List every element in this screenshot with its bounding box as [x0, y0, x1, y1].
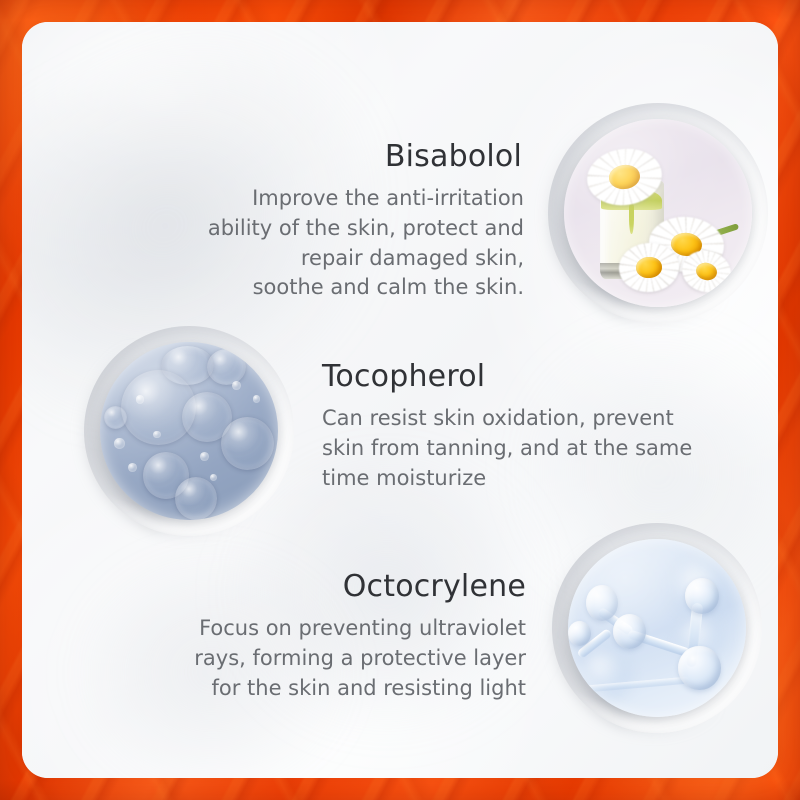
- molecule-atom: [685, 578, 719, 614]
- molecule-structure-photo: [568, 539, 746, 717]
- molecule-bokeh: [579, 649, 632, 702]
- water-bubble: [104, 406, 127, 429]
- ingredient-image-bisabolol: [564, 119, 752, 307]
- micro-bubble: [128, 463, 137, 472]
- ingredient-benefits-poster: Bisabolol Improve the anti-irritation ab…: [0, 0, 800, 800]
- ingredient-description-tocopherol: Can resist skin oxidation, prevent skin …: [322, 404, 714, 493]
- micro-bubble: [153, 431, 160, 438]
- ingredient-title-octocrylene: Octocrylene: [130, 570, 526, 603]
- content-card: Bisabolol Improve the anti-irritation ab…: [22, 22, 778, 778]
- water-bubble: [207, 349, 246, 385]
- ingredient-block-tocopherol: Tocopherol Can resist skin oxidation, pr…: [322, 360, 714, 493]
- ingredient-description-octocrylene: Focus on preventing ultraviolet rays, fo…: [130, 614, 526, 703]
- daisy-flower-icon: [617, 241, 680, 294]
- chamomile-oil-jar-photo: [564, 119, 752, 307]
- micro-bubble: [210, 474, 217, 481]
- ingredient-block-bisabolol: Bisabolol Improve the anti-irritation ab…: [132, 140, 524, 303]
- bubbles-scene: [100, 342, 278, 520]
- daisy-flower-icon: [583, 144, 665, 210]
- jar-oil-drip: [629, 204, 633, 233]
- molecule-atom: [678, 646, 721, 691]
- molecule-atom: [586, 585, 618, 621]
- micro-bubble: [200, 452, 209, 461]
- ingredient-title-tocopherol: Tocopherol: [322, 360, 714, 393]
- chamomile-scene: [564, 119, 752, 307]
- water-bubble: [221, 417, 274, 470]
- ingredient-block-octocrylene: Octocrylene Focus on preventing ultravio…: [130, 570, 526, 703]
- daisy-flower-icon: [678, 245, 735, 297]
- ingredient-image-octocrylene: [568, 539, 746, 717]
- molecule-atom: [568, 621, 591, 646]
- ingredient-title-bisabolol: Bisabolol: [132, 140, 524, 173]
- water-bubble: [175, 477, 218, 520]
- micro-bubble: [253, 395, 260, 402]
- water-bubbles-photo: [100, 342, 278, 520]
- ingredient-description-bisabolol: Improve the anti-irritation ability of t…: [132, 184, 524, 303]
- micro-bubble: [114, 438, 125, 449]
- molecule-atom: [613, 614, 647, 650]
- molecule-scene: [568, 539, 746, 717]
- micro-bubble: [232, 381, 241, 390]
- ingredient-image-tocopherol: [100, 342, 278, 520]
